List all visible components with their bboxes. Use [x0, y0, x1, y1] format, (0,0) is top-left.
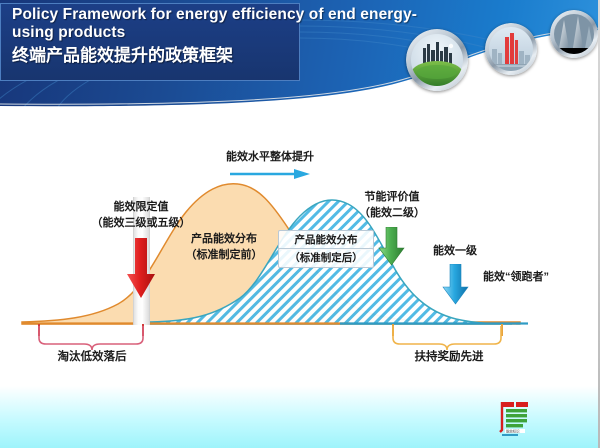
label-overall-improvement: 能效水平整体提升: [200, 150, 340, 165]
label-bracket-right: 扶持奖励先进: [387, 350, 511, 365]
label-saving-eval-sub: （能效二级）: [330, 206, 454, 221]
slide-header: Policy Framework for energy efficiency o…: [0, 0, 600, 112]
modern-buildings-photo: [554, 14, 594, 54]
limit-value-down-arrow-icon: [126, 238, 156, 300]
label-dist-before-line1: 产品能效分布: [170, 232, 278, 247]
badge-green-city-globe: [406, 29, 468, 91]
label-bracket-left: 淘汰低效落后: [32, 350, 152, 365]
label-limit-value-sub: （能效三级或五级）: [58, 216, 224, 231]
label-limit-value-title: 能效限定值: [76, 200, 206, 215]
label-efficiency-leader: 能效“领跑者”: [456, 270, 576, 285]
leader-baseline-tick: [502, 434, 518, 436]
badge-skyline-towers: [485, 23, 537, 75]
saving-eval-down-arrow-icon: [378, 227, 406, 267]
energy-label-icon: 能效标识: [496, 400, 532, 434]
label-dist-after-line1: 产品能效分布: [278, 230, 374, 250]
energy-label-caption: 能效标识: [506, 428, 520, 433]
diagram-area: 能效水平整体提升 能效限定值 （能效三级或五级） 产品能效分布 （标准制定前） …: [0, 112, 600, 448]
overall-improvement-arrow-icon: [228, 167, 312, 181]
label-grade-one: 能效一级: [408, 244, 502, 259]
green-city-globe-photo: [411, 34, 463, 86]
slide-root: Policy Framework for energy efficiency o…: [0, 0, 600, 448]
header-title-chinese: 终端产品能效提升的政策框架: [12, 45, 432, 67]
badge-modern-buildings: [550, 10, 598, 58]
label-dist-before-line2: （标准制定前）: [166, 248, 282, 263]
skyline-towers-photo: [489, 27, 533, 71]
label-dist-after-line2: （标准制定后）: [278, 248, 374, 268]
label-saving-eval-title: 节能评价值: [334, 190, 450, 205]
header-title-english: Policy Framework for energy efficiency o…: [12, 6, 432, 42]
